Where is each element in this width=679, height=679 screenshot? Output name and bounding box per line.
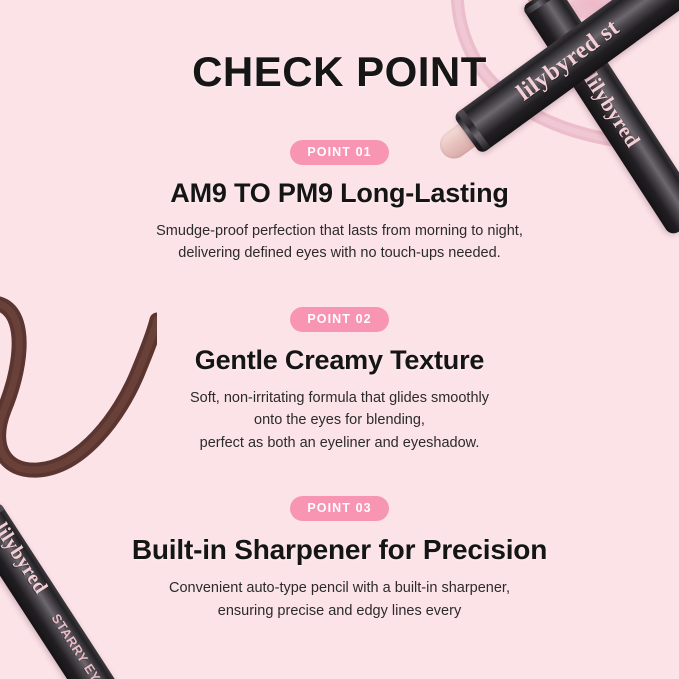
product-infographic: lilybyred lilybyred st lilybyred STARRY …: [0, 0, 679, 679]
point-heading-1: AM9 TO PM9 Long-Lasting: [170, 178, 508, 209]
point-heading-3: Built-in Sharpener for Precision: [132, 534, 547, 566]
point-body-2: Soft, non-irritating formula that glides…: [190, 387, 489, 454]
point-body-1: Smudge-proof perfection that lasts from …: [156, 220, 523, 265]
point-heading-2: Gentle Creamy Texture: [195, 345, 484, 376]
point-block-2: POINT 02 Gentle Creamy Texture Soft, non…: [0, 307, 679, 454]
point-block-3: POINT 03 Built-in Sharpener for Precisio…: [0, 496, 679, 622]
point-badge-3: POINT 03: [290, 496, 388, 521]
point-badge-2: POINT 02: [290, 307, 388, 332]
point-body-3: Convenient auto-type pencil with a built…: [169, 577, 510, 622]
point-block-1: POINT 01 AM9 TO PM9 Long-Lasting Smudge-…: [0, 140, 679, 265]
point-badge-1: POINT 01: [290, 140, 388, 165]
page-title: CHECK POINT: [192, 48, 487, 96]
